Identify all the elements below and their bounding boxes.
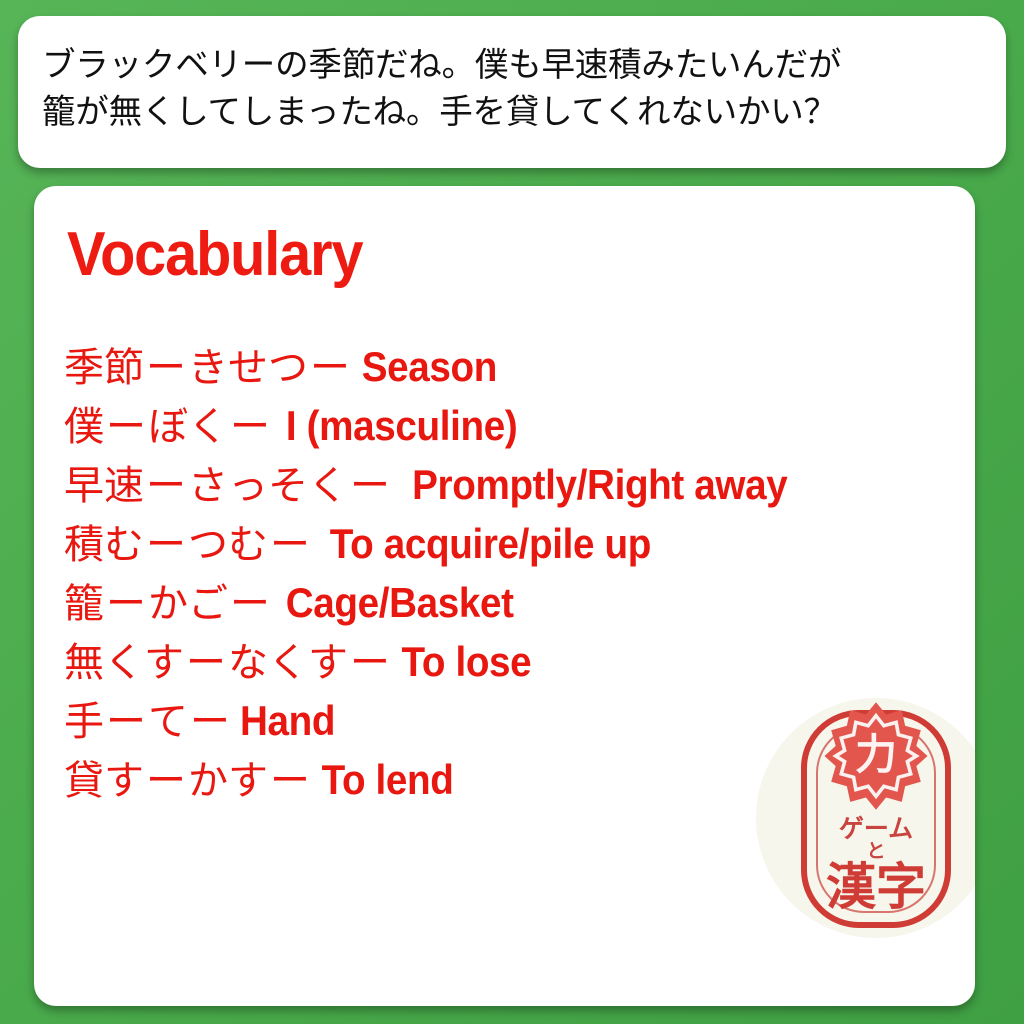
vocab-meaning: Promptly/Right away xyxy=(408,464,787,506)
separator-dash: ー xyxy=(104,407,148,447)
vocab-meaning: To lose xyxy=(398,641,532,683)
list-item: 早速 ー さっそく ー Promptly/Right away xyxy=(64,464,965,523)
vocab-kanji: 早速 xyxy=(64,466,144,506)
slide-root: ブラックベリーの季節だね。僕も早速積みたいんだが 籠が無くしてしまったね。手を貸… xyxy=(0,0,1024,1024)
logo-power-kanji: 力 xyxy=(820,700,932,812)
separator-dash: ー xyxy=(308,348,352,388)
separator-dash: ー xyxy=(228,407,272,447)
vocab-meaning: To acquire/pile up xyxy=(326,523,651,565)
vocab-kanji: 籠 xyxy=(64,584,104,624)
logo-text-game: ゲーム xyxy=(756,816,975,841)
list-item: 籠 ー かご ー Cage/Basket xyxy=(64,582,965,641)
vocab-kanji: 積む xyxy=(64,525,144,565)
vocab-kanji: 手 xyxy=(64,702,104,742)
vocab-reading: さっそく xyxy=(188,466,348,506)
separator-dash: ー xyxy=(348,466,392,506)
separator-dash: ー xyxy=(104,584,148,624)
vocab-reading: きせつ xyxy=(188,348,308,388)
vocab-kanji: 季節 xyxy=(64,348,144,388)
vocab-kanji: 貸す xyxy=(64,761,144,801)
page-title: Vocabulary xyxy=(67,224,362,286)
separator-dash: ー xyxy=(268,525,312,565)
separator-dash: ー xyxy=(348,643,392,683)
vocab-reading: つむ xyxy=(188,525,268,565)
vocab-meaning: Season xyxy=(358,346,497,388)
logo-text-kanji: 漢字 xyxy=(756,862,975,912)
vocab-meaning: Hand xyxy=(236,700,335,742)
vocab-kanji: 無くす xyxy=(64,643,184,683)
separator-dash: ー xyxy=(144,525,188,565)
vocab-meaning: To lend xyxy=(318,759,454,801)
vocab-meaning: Cage/Basket xyxy=(282,582,514,624)
separator-dash: ー xyxy=(144,348,188,388)
separator-dash: ー xyxy=(268,761,312,801)
sentence-card: ブラックベリーの季節だね。僕も早速積みたいんだが 籠が無くしてしまったね。手を貸… xyxy=(18,16,1006,168)
list-item: 季節 ー きせつ ー Season xyxy=(64,346,965,405)
vocab-reading: て xyxy=(148,702,188,742)
vocab-reading: ぼく xyxy=(148,407,228,447)
list-item: 僕 ー ぼく ー I (masculine) xyxy=(64,405,965,464)
separator-dash: ー xyxy=(184,643,228,683)
separator-dash: ー xyxy=(188,702,232,742)
vocab-reading: かご xyxy=(148,584,228,624)
vocab-meaning: I (masculine) xyxy=(282,405,517,447)
brand-logo: 力 ゲーム と 漢字 xyxy=(756,698,975,948)
japanese-sentence: ブラックベリーの季節だね。僕も早速積みたいんだが 籠が無くしてしまったね。手を貸… xyxy=(42,42,982,136)
list-item: 無くす ー なくす ー To lose xyxy=(64,641,965,700)
list-item: 積む ー つむ ー To acquire/pile up xyxy=(64,523,965,582)
separator-dash: ー xyxy=(144,466,188,506)
vocab-kanji: 僕 xyxy=(64,407,104,447)
vocabulary-card: Vocabulary 季節 ー きせつ ー Season 僕 ー ぼく ー I … xyxy=(34,186,975,1006)
vocab-reading: かす xyxy=(188,761,268,801)
separator-dash: ー xyxy=(228,584,272,624)
separator-dash: ー xyxy=(144,761,188,801)
vocab-reading: なくす xyxy=(228,643,348,683)
separator-dash: ー xyxy=(104,702,148,742)
